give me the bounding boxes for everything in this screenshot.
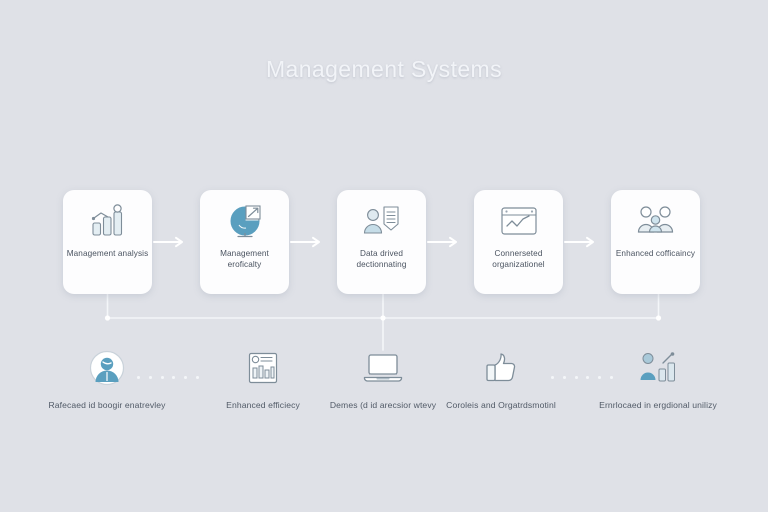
flow-card-management-analysis[interactable]: Management analysis xyxy=(63,190,152,294)
flow-card-label: Management analysis xyxy=(66,248,150,259)
arrow-right-icon xyxy=(289,235,327,247)
feature-item-coroleis[interactable]: Coroleis and Orgatrdsmotinl xyxy=(441,348,561,411)
thumbs-up-icon xyxy=(479,348,523,388)
page-title: Management Systems xyxy=(0,56,768,83)
feature-item-label: Enhanced efficiecy xyxy=(203,399,323,411)
feature-item-label: Demes (d id arecsior wtevy xyxy=(323,399,443,411)
feature-item-rafecaed[interactable]: Rafecaed id boogir enatrevley xyxy=(47,348,167,411)
flow-card-label: Data drived dectionnating xyxy=(340,248,424,270)
arrow-right-icon xyxy=(152,235,190,247)
person-bar-chart-icon xyxy=(636,348,680,388)
browser-line-chart-icon xyxy=(495,201,543,241)
bar-chart-trend-icon xyxy=(84,201,132,241)
feature-item-label: Coroleis and Orgatrdsmotinl xyxy=(441,399,561,411)
feature-item-label: Ernrlocaed in ergdional unilizy xyxy=(598,399,718,411)
arrow-right-icon xyxy=(563,235,601,247)
arrow-right-icon xyxy=(426,235,464,247)
feature-row: Rafecaed id boogir enatrevley Enhanced e… xyxy=(0,348,768,448)
laptop-icon xyxy=(361,348,405,388)
flow-card-management-eroficalty[interactable]: Management eroficalty xyxy=(200,190,289,294)
flow-card-data-drived[interactable]: Data drived dectionnating xyxy=(337,190,426,294)
person-document-icon xyxy=(358,201,406,241)
avatar-circle-icon xyxy=(85,348,129,388)
flow-card-label: Management eroficalty xyxy=(203,248,287,270)
people-group-icon xyxy=(632,201,680,241)
flow-card-label: Enhanced cofficaincy xyxy=(614,248,698,259)
feature-item-label: Rafecaed id boogir enatrevley xyxy=(47,399,167,411)
flow-card-connerseted-organizationel[interactable]: Connerseted organizationel xyxy=(474,190,563,294)
feature-item-enhanced-efficiecy[interactable]: Enhanced efficiecy xyxy=(203,348,323,411)
flow-card-label: Connerseted organizationel xyxy=(477,248,561,270)
flow-card-row: Management analysis xyxy=(0,190,768,294)
feature-item-demes[interactable]: Demes (d id arecsior wtevy xyxy=(323,348,443,411)
infographic-canvas: Management Systems xyxy=(0,0,768,512)
report-document-icon xyxy=(241,348,285,388)
feature-item-ernrlocaed[interactable]: Ernrlocaed in ergdional unilizy xyxy=(598,348,718,411)
pie-chart-arrow-icon xyxy=(221,201,269,241)
flow-card-enhanced-cofficaincy[interactable]: Enhanced cofficaincy xyxy=(611,190,700,294)
